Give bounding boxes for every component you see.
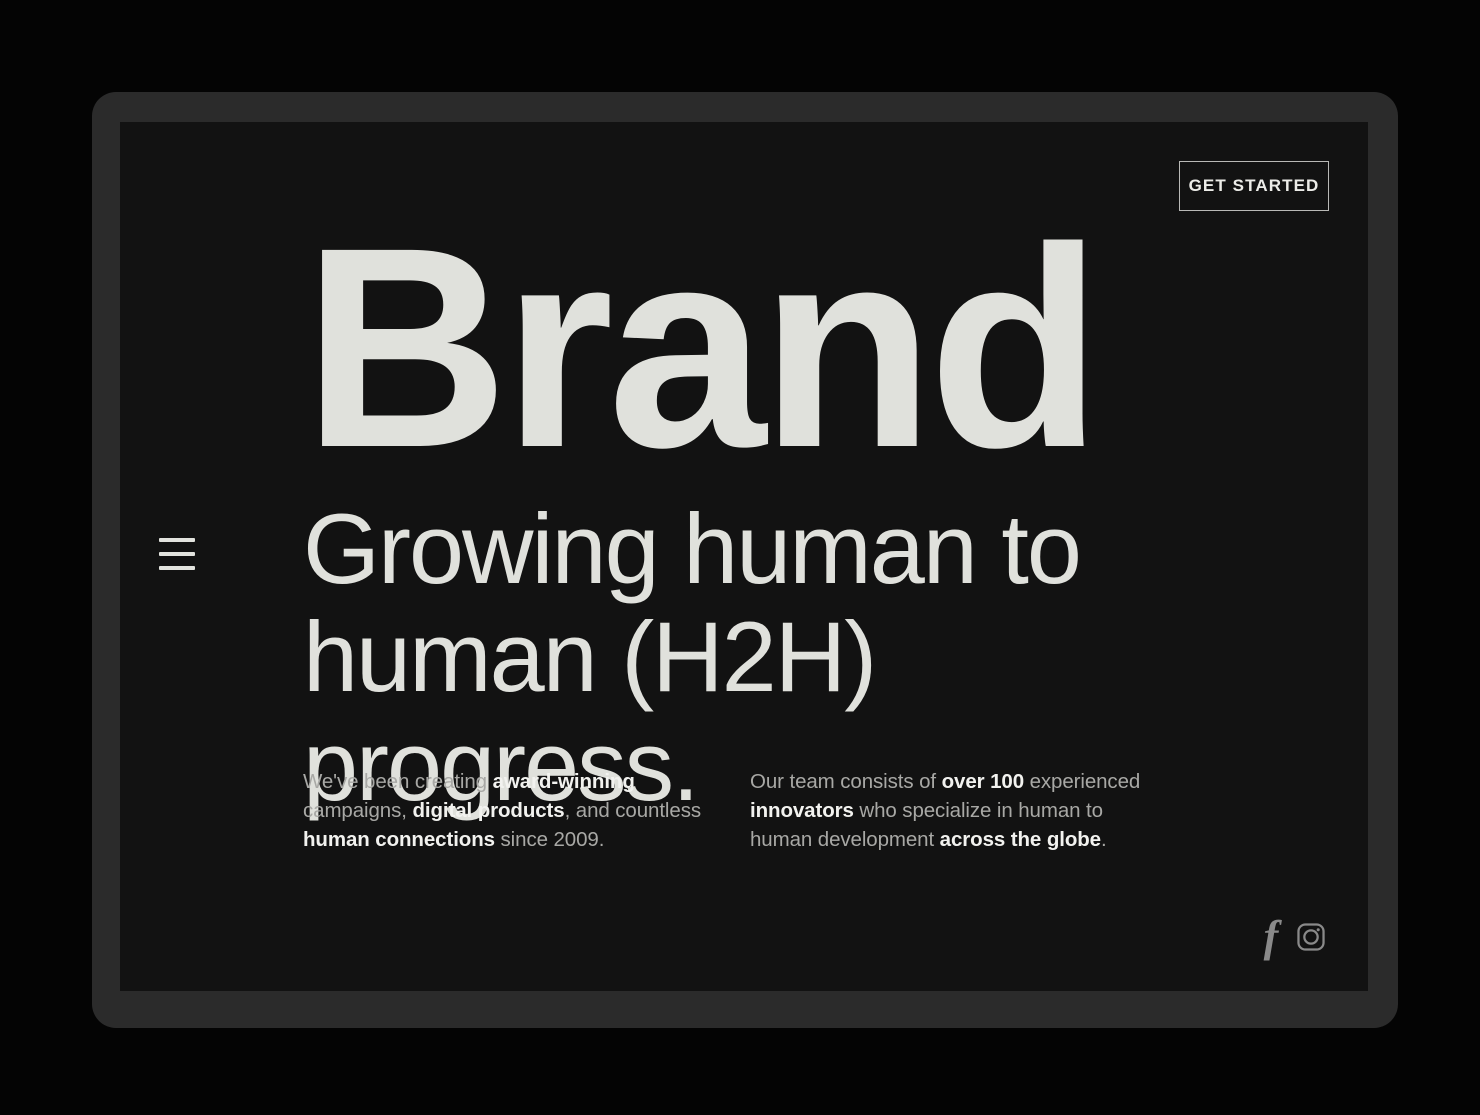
browser-screen: GET STARTED Brand Growing human to human… — [120, 122, 1368, 991]
paragraph-about-agency: We've been creating award-winning campai… — [303, 767, 718, 854]
get-started-button[interactable]: GET STARTED — [1179, 161, 1329, 211]
body-text: We've been creating — [303, 770, 493, 793]
description-columns: We've been creating award-winning campai… — [303, 746, 1343, 874]
emphasis-text: innovators — [750, 799, 854, 822]
hero-text-block: Brand Growing human to human (H2H) progr… — [303, 240, 1323, 821]
page-title: Brand — [303, 240, 1323, 457]
social-links: f — [1263, 920, 1327, 954]
hamburger-bar-2 — [159, 552, 195, 556]
facebook-glyph: f — [1263, 920, 1279, 954]
emphasis-text: across the globe — [940, 828, 1101, 851]
instagram-icon[interactable] — [1295, 921, 1327, 953]
emphasis-text: award-winning — [493, 770, 635, 793]
body-text: campaigns, — [303, 799, 412, 822]
hamburger-bar-3 — [159, 566, 195, 570]
hamburger-bar-1 — [159, 538, 195, 542]
hamburger-menu-icon[interactable] — [159, 538, 195, 570]
emphasis-text: digital products — [412, 799, 564, 822]
facebook-icon[interactable]: f — [1263, 920, 1279, 954]
body-text: since 2009. — [495, 828, 604, 851]
emphasis-text: over 100 — [942, 770, 1024, 793]
body-text: , and countless — [565, 799, 701, 822]
paragraph-about-team: Our team consists of over 100 experience… — [750, 767, 1165, 854]
body-text: . — [1101, 828, 1107, 851]
emphasis-text: human connections — [303, 828, 495, 851]
body-text: Our team consists of — [750, 770, 942, 793]
body-text: experienced — [1024, 770, 1140, 793]
